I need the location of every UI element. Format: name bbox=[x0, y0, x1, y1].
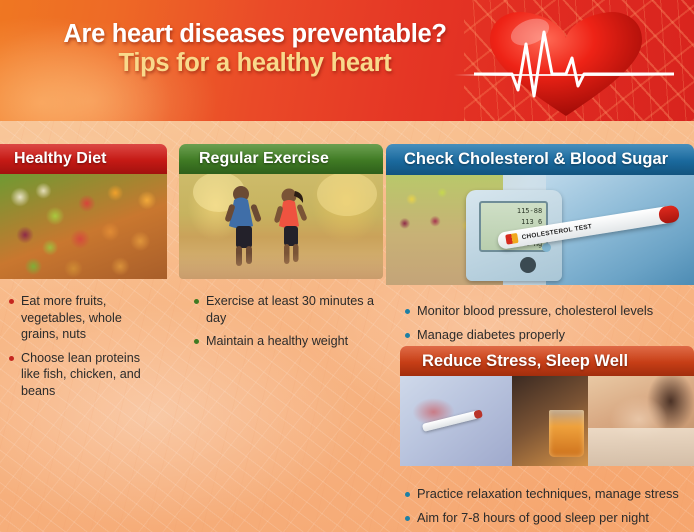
list-item: Exercise at least 30 minutes a day bbox=[193, 293, 379, 326]
photo-regular-exercise bbox=[179, 174, 383, 279]
tips-list-check-cholesterol: Monitor blood pressure, cholesterol leve… bbox=[386, 293, 694, 343]
card-title-reduce-stress: Reduce Stress, Sleep Well bbox=[422, 352, 628, 371]
list-item: Practice relaxation techniques, manage s… bbox=[404, 486, 694, 503]
ecg-baseline bbox=[454, 74, 674, 76]
card-title-regular-exercise: Regular Exercise bbox=[199, 150, 329, 168]
card-header-check-cholesterol: Check Cholesterol & Blood Sugar bbox=[386, 144, 694, 175]
photo-check-cholesterol: 115-88 113 6 155 mm Hg CHOLESTEROL TEST bbox=[386, 175, 694, 285]
list-item: Monitor blood pressure, cholesterol leve… bbox=[404, 303, 694, 320]
card-healthy-diet[interactable]: Healthy Diet Eat more fruits, vegetables… bbox=[0, 144, 167, 407]
stress-and-sleep-image bbox=[400, 376, 694, 466]
drink-panel bbox=[512, 376, 600, 466]
tips-list-regular-exercise: Exercise at least 30 minutes a day Maint… bbox=[179, 287, 383, 350]
card-body-check-cholesterol: Monitor blood pressure, cholesterol leve… bbox=[386, 285, 694, 343]
title-line-1: Are heart diseases preventable? bbox=[0, 20, 510, 49]
tips-list-healthy-diet: Eat more fruits, vegetables, whole grain… bbox=[0, 287, 167, 400]
list-item: Maintain a healthy weight bbox=[193, 333, 379, 350]
heart-with-ecg-icon bbox=[474, 4, 674, 121]
card-body-reduce-stress: Practice relaxation techniques, manage s… bbox=[400, 466, 694, 526]
list-item: Choose lean proteins like fish, chicken,… bbox=[8, 350, 161, 400]
glass-of-drink bbox=[549, 410, 584, 457]
monitor-button-small[interactable] bbox=[542, 243, 551, 252]
sick-person-panel bbox=[400, 376, 512, 466]
card-header-reduce-stress: Reduce Stress, Sleep Well bbox=[400, 346, 694, 376]
card-body-regular-exercise: Exercise at least 30 minutes a day Maint… bbox=[179, 279, 383, 350]
heart-svg bbox=[474, 4, 674, 121]
card-title-healthy-diet: Healthy Diet bbox=[14, 150, 106, 168]
fruits-and-vegetables-image bbox=[0, 174, 167, 279]
cholesterol-test-image: 115-88 113 6 155 mm Hg CHOLESTEROL TEST bbox=[386, 175, 694, 285]
banner-title: Are heart diseases preventable? Tips for… bbox=[0, 20, 510, 77]
couple-jogging-image bbox=[179, 174, 383, 279]
card-check-cholesterol[interactable]: Check Cholesterol & Blood Sugar 115-88 1… bbox=[386, 144, 694, 350]
header-banner: Are heart diseases preventable? Tips for… bbox=[0, 0, 694, 121]
tips-list-reduce-stress: Practice relaxation techniques, manage s… bbox=[400, 474, 694, 526]
title-line-2: Tips for a healthy heart bbox=[0, 49, 510, 78]
monitor-button-large[interactable] bbox=[520, 257, 536, 273]
photo-reduce-stress bbox=[400, 376, 694, 466]
card-body-healthy-diet: Eat more fruits, vegetables, whole grain… bbox=[0, 279, 167, 400]
photo-healthy-diet bbox=[0, 174, 167, 279]
path-foreground bbox=[179, 253, 383, 279]
list-item: Manage diabetes properly bbox=[404, 327, 694, 344]
sleeping-woman-panel bbox=[588, 376, 694, 466]
test-brand-logo-icon bbox=[505, 233, 518, 245]
pillow bbox=[588, 428, 694, 466]
card-title-check-cholesterol: Check Cholesterol & Blood Sugar bbox=[404, 150, 668, 169]
card-regular-exercise[interactable]: Regular Exercise bbox=[179, 144, 383, 357]
card-header-healthy-diet: Healthy Diet bbox=[0, 144, 167, 174]
reading-systolic-diastolic: 115-88 bbox=[485, 206, 542, 217]
list-item: Aim for 7-8 hours of good sleep per nigh… bbox=[404, 510, 694, 527]
card-reduce-stress[interactable]: Reduce Stress, Sleep Well Practice relax… bbox=[400, 346, 694, 532]
card-header-regular-exercise: Regular Exercise bbox=[179, 144, 383, 174]
thermometer-icon bbox=[422, 410, 480, 432]
list-item: Eat more fruits, vegetables, whole grain… bbox=[8, 293, 161, 343]
